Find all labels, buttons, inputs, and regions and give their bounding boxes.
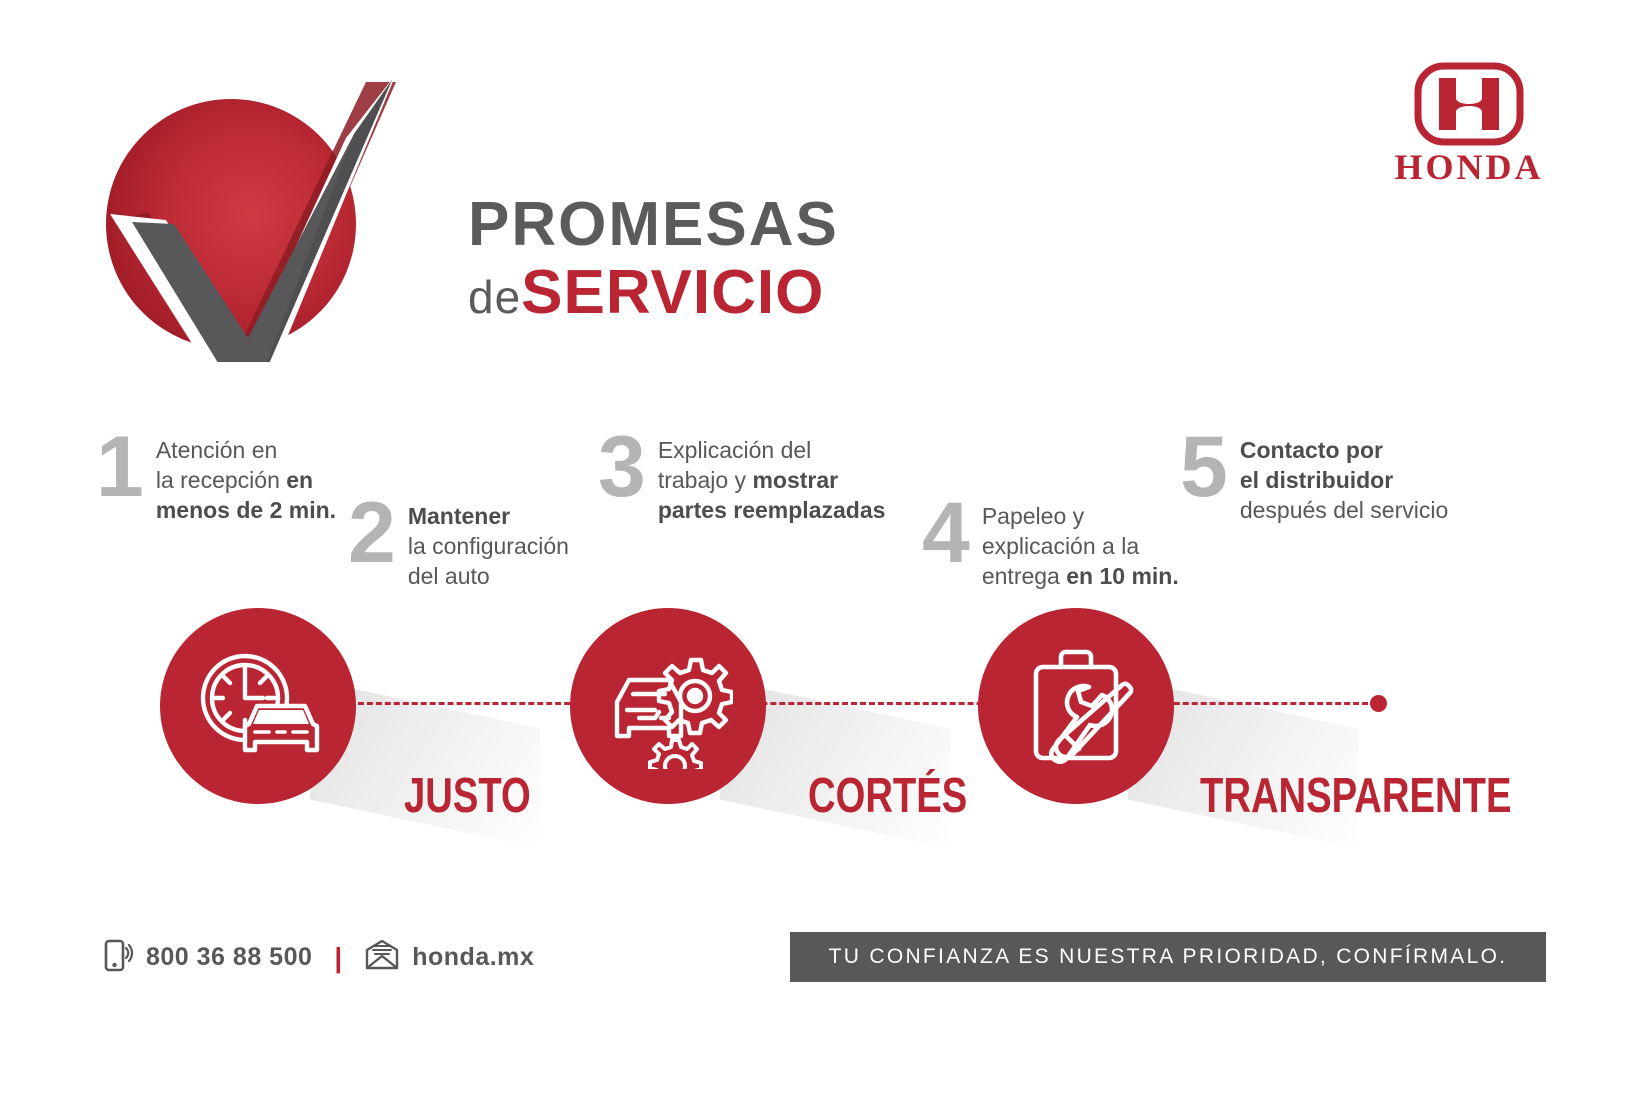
timeline-track <box>340 702 1386 708</box>
promise-item-5: 5 Contacto por el distribuidor después d… <box>1180 432 1448 526</box>
promise-text: Atención en la recepción en menos de 2 m… <box>156 432 336 526</box>
red-circle-checkmark-icon <box>96 72 396 362</box>
category-label-cortes: CORTÉS <box>808 772 967 821</box>
promise-line-bold: en 10 min. <box>1066 563 1178 589</box>
footer-separator: | <box>334 942 342 974</box>
category-label-transparente: TRANSPARENTE <box>1200 772 1511 821</box>
timeline-node-1 <box>160 608 356 804</box>
promise-line-bold: en <box>286 467 313 493</box>
infographic-canvas: PROMESAS deSERVICIO HONDA 1 Atención en … <box>0 0 1646 1102</box>
footer-website[interactable]: honda.mx <box>412 943 534 972</box>
promise-number: 3 <box>598 432 646 503</box>
promise-number: 5 <box>1180 432 1228 503</box>
promise-line: la recepción <box>156 467 286 493</box>
promise-line-bold: Mantener <box>408 503 510 529</box>
promise-line: la configuración <box>408 533 569 559</box>
promise-line: trabajo y <box>658 467 753 493</box>
promise-line-bold: el distribuidor <box>1240 467 1393 493</box>
promise-line: entrega <box>982 563 1066 589</box>
clock-and-car-icon <box>160 608 356 804</box>
timeline-node-3 <box>978 608 1174 804</box>
footer-banner-text: TU CONFIANZA ES NUESTRA PRIORIDAD, CONFÍ… <box>829 945 1508 969</box>
promise-line-bold: mostrar <box>752 467 838 493</box>
envelope-icon <box>364 940 400 975</box>
promise-text: Contacto por el distribuidor después del… <box>1240 432 1448 526</box>
page-title: PROMESAS deSERVICIO <box>468 194 839 324</box>
car-and-gears-icon <box>570 608 766 804</box>
promise-number: 1 <box>96 432 144 503</box>
promise-item-3: 3 Explicación del trabajo y mostrar part… <box>598 432 885 526</box>
promise-line: Explicación del <box>658 437 811 463</box>
timeline-end-dot <box>1370 695 1387 712</box>
honda-wordmark: HONDA <box>1384 146 1554 188</box>
promise-item-1: 1 Atención en la recepción en menos de 2… <box>96 432 336 526</box>
title-servicio: SERVICIO <box>521 258 824 327</box>
promise-number: 2 <box>348 498 396 569</box>
promise-line: explicación a la <box>982 533 1139 559</box>
promise-line: del auto <box>408 563 490 589</box>
promise-text: Mantener la configuración del auto <box>408 498 569 592</box>
promise-text: Explicación del trabajo y mostrar partes… <box>658 432 886 526</box>
category-label-justo: JUSTO <box>404 772 531 821</box>
mobile-phone-icon <box>104 938 134 977</box>
clipboard-wrench-screwdriver-icon <box>978 608 1174 804</box>
promise-number: 4 <box>922 498 970 569</box>
honda-logo: HONDA <box>1384 62 1554 192</box>
title-de: de <box>468 271 521 323</box>
footer-banner: TU CONFIANZA ES NUESTRA PRIORIDAD, CONFÍ… <box>790 932 1546 982</box>
promise-item-4: 4 Papeleo y explicación a la entrega en … <box>922 498 1179 592</box>
promise-line-bold: partes reemplazadas <box>658 497 886 523</box>
promise-line: Atención en <box>156 437 277 463</box>
footer-contact: 800 36 88 500 | honda.mx <box>104 938 534 977</box>
promise-item-2: 2 Mantener la configuración del auto <box>348 498 569 592</box>
promise-line: después del servicio <box>1240 497 1448 523</box>
promise-line-bold: menos de 2 min. <box>156 497 336 523</box>
title-promesas: PROMESAS <box>468 194 839 256</box>
timeline-node-2 <box>570 608 766 804</box>
promise-line-bold: Contacto por <box>1240 437 1383 463</box>
promise-line: Papeleo y <box>982 503 1084 529</box>
brand-lockup: PROMESAS deSERVICIO <box>96 72 796 362</box>
footer-phone-number[interactable]: 800 36 88 500 <box>146 943 312 972</box>
honda-h-emblem-icon <box>1384 62 1554 146</box>
promise-text: Papeleo y explicación a la entrega en 10… <box>982 498 1179 592</box>
